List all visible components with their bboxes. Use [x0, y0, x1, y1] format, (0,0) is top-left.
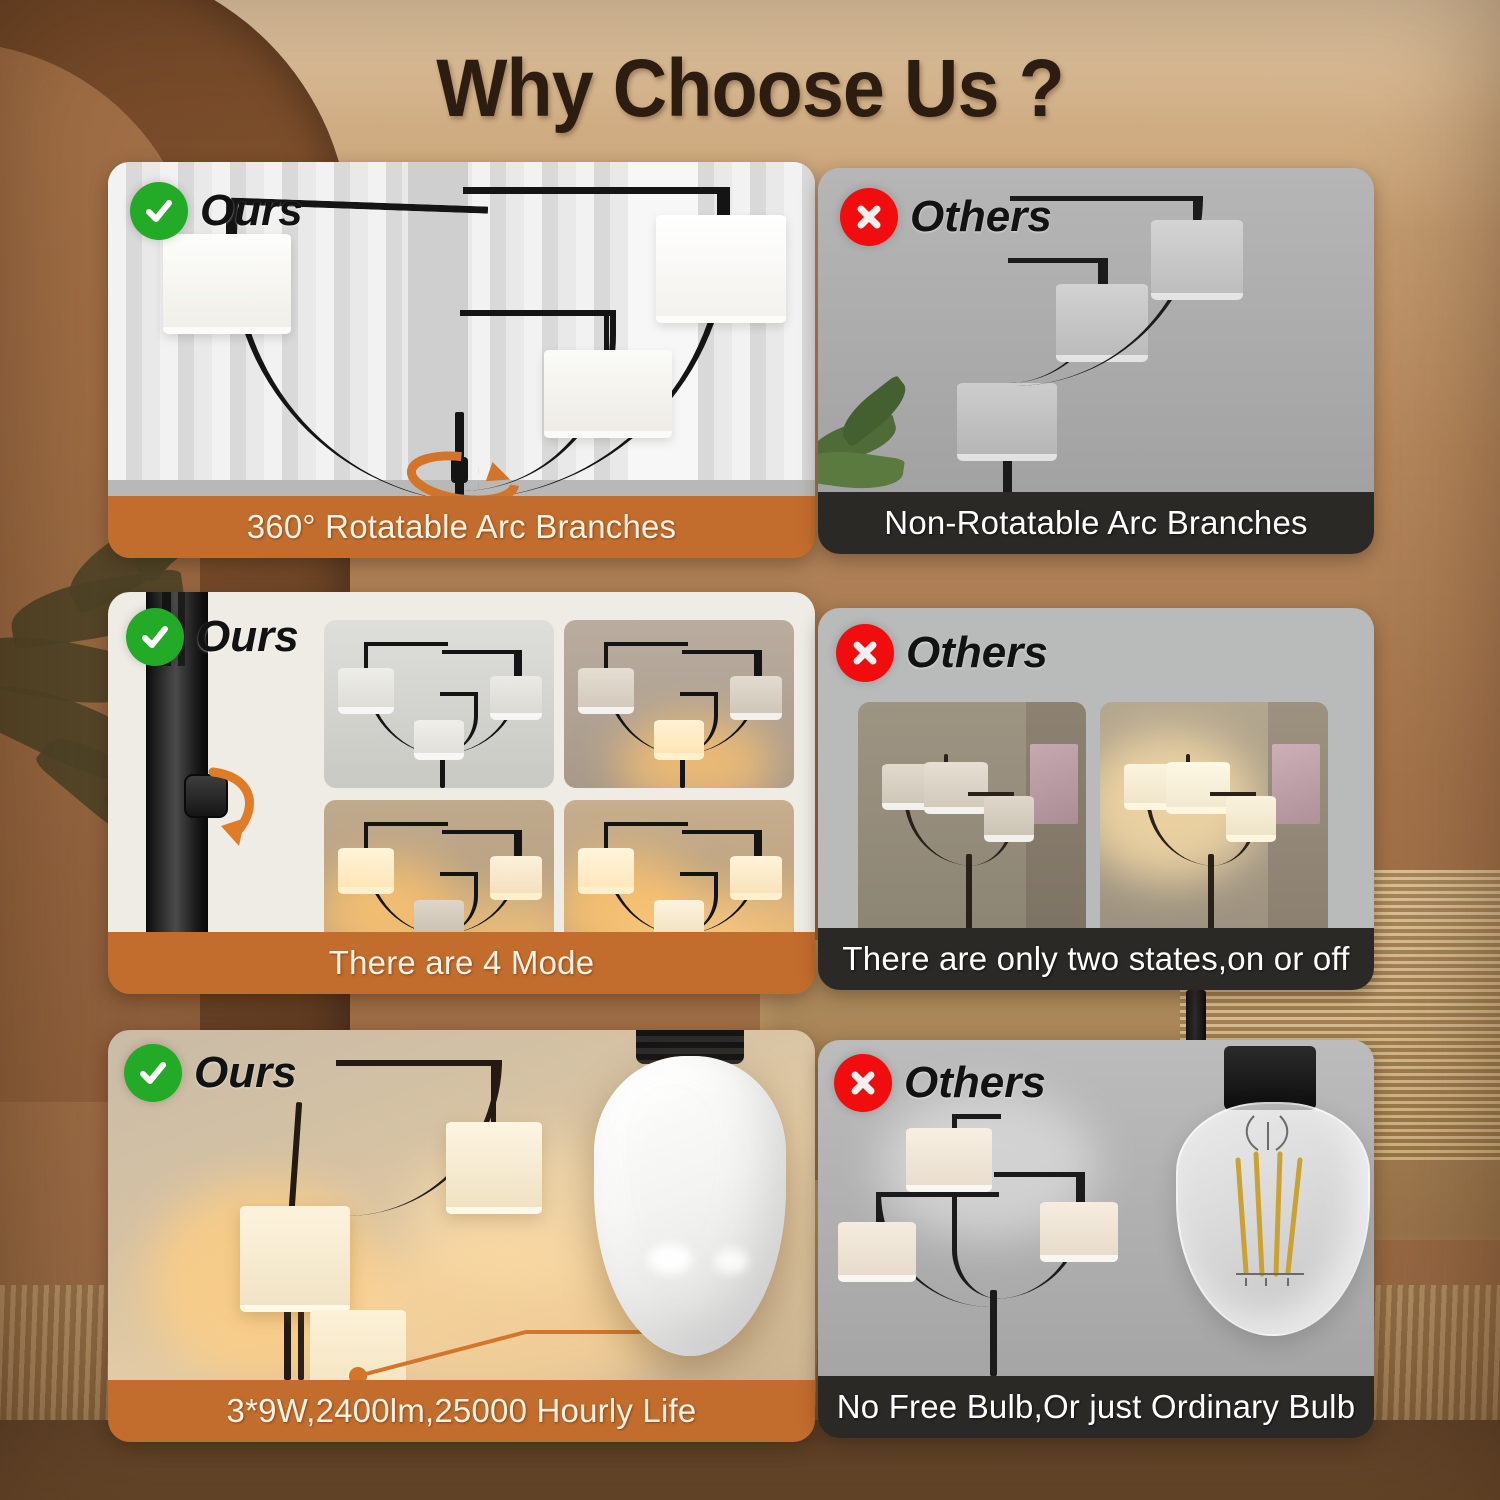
panel-row2-ours[interactable]: There are 4 Mode Ours: [108, 592, 815, 994]
badge-label-ours: Ours: [194, 1048, 297, 1098]
dimmer-rotation-arrow-icon: [203, 760, 275, 852]
filament-bulb: [1158, 1040, 1374, 1376]
badge-label-others: Others: [910, 192, 1052, 242]
bulb-filaments: [1176, 1102, 1366, 1332]
cross-icon: [840, 188, 898, 246]
lamp-shade-top: [1151, 220, 1243, 300]
panel-row1-others[interactable]: Non-Rotatable Arc Branches Others: [818, 168, 1374, 554]
mode-thumb-two[interactable]: [324, 800, 554, 932]
lamp-shade-left: [163, 234, 291, 334]
badge-ours-row3: Ours: [124, 1044, 297, 1102]
lamp-shade-left: [838, 1222, 916, 1282]
lamp-shade-mid: [906, 1128, 992, 1192]
caption-row1-others: Non-Rotatable Arc Branches: [818, 492, 1374, 554]
lamp-shade-right: [446, 1122, 542, 1214]
rotation-arrow-icon: [398, 440, 528, 496]
bulb-cap: [1224, 1046, 1316, 1110]
caption-row1-ours: 360° Rotatable Arc Branches: [108, 496, 815, 558]
caption-row2-ours: There are 4 Mode: [108, 932, 815, 994]
lamp-hanger-right: [1076, 1172, 1080, 1206]
check-icon: [126, 608, 184, 666]
lamp-shade-middle: [544, 350, 672, 438]
mode-thumb-three[interactable]: [564, 800, 794, 932]
mode-thumb-one[interactable]: [564, 620, 794, 788]
caption-row3-ours: 3*9W,2400lm,25000 Hourly Life: [108, 1380, 815, 1442]
badge-others-row2: Others: [836, 624, 1048, 682]
check-icon: [130, 182, 188, 240]
comparison-grid: 360° Rotatable Arc Branches Ours: [0, 0, 1500, 1500]
lamp-shade-front: [240, 1206, 350, 1312]
badge-label-ours: Ours: [196, 612, 299, 662]
badge-ours-row1: Ours: [130, 182, 303, 240]
bulb-glass: [594, 1056, 786, 1356]
panel-row3-others[interactable]: No Free Bulb,Or just Ordinary Bulb Other…: [818, 1040, 1374, 1438]
caption-row3-others: No Free Bulb,Or just Ordinary Bulb: [818, 1376, 1374, 1438]
lamp-hanger: [491, 1060, 496, 1124]
panel-row3-ours[interactable]: 3*9W,2400lm,25000 Hourly Life Ours: [108, 1030, 815, 1442]
caption-row2-others: There are only two states,on or off: [818, 928, 1374, 990]
panel-row2-others[interactable]: There are only two states,on or off Othe…: [818, 608, 1374, 990]
badge-ours-row2: Ours: [126, 608, 299, 666]
check-icon: [124, 1044, 182, 1102]
plant-decor: [818, 394, 948, 492]
lamp-shade-right: [1040, 1202, 1118, 1262]
state-thumb-off[interactable]: [858, 702, 1086, 928]
badge-others-row1: Others: [840, 188, 1052, 246]
cross-icon: [834, 1054, 892, 1112]
mode-thumb-off[interactable]: [324, 620, 554, 788]
badge-label-others: Others: [906, 628, 1048, 678]
lamp-shade-right: [656, 215, 786, 323]
badge-label-others: Others: [904, 1058, 1046, 1108]
panel-row1-ours[interactable]: 360° Rotatable Arc Branches Ours: [108, 162, 815, 558]
cross-icon: [836, 624, 894, 682]
badge-others-row3: Others: [834, 1054, 1046, 1112]
badge-label-ours: Ours: [200, 186, 303, 236]
led-bulb: [566, 1030, 815, 1380]
lamp-shade-low: [957, 383, 1057, 461]
state-thumb-on[interactable]: [1100, 702, 1328, 928]
